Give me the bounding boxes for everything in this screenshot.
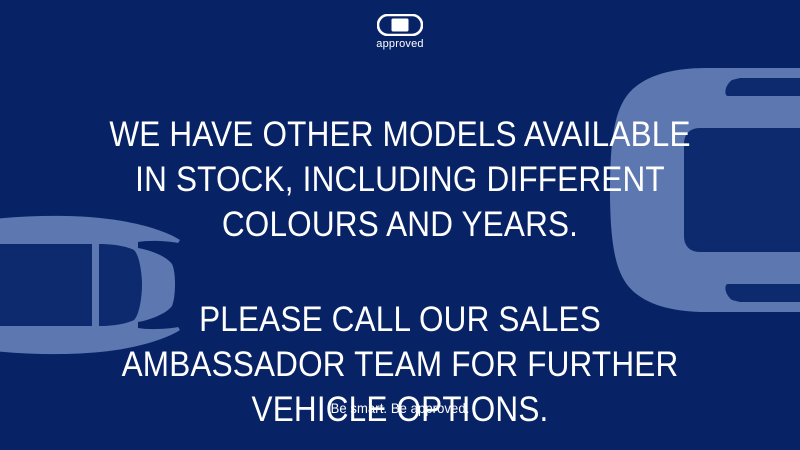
promo-slide: approved WE HAVE OTHER MODELS AVAILABLE … <box>0 0 800 450</box>
brand-logo: approved <box>0 14 800 50</box>
message-block: WE HAVE OTHER MODELS AVAILABLE IN STOCK,… <box>0 112 800 432</box>
headline-paragraph-1: WE HAVE OTHER MODELS AVAILABLE IN STOCK,… <box>103 112 697 247</box>
brand-wordmark: approved <box>376 39 423 50</box>
tagline: Be smart. Be approved. <box>28 400 772 416</box>
car-top-view-icon <box>377 14 423 36</box>
